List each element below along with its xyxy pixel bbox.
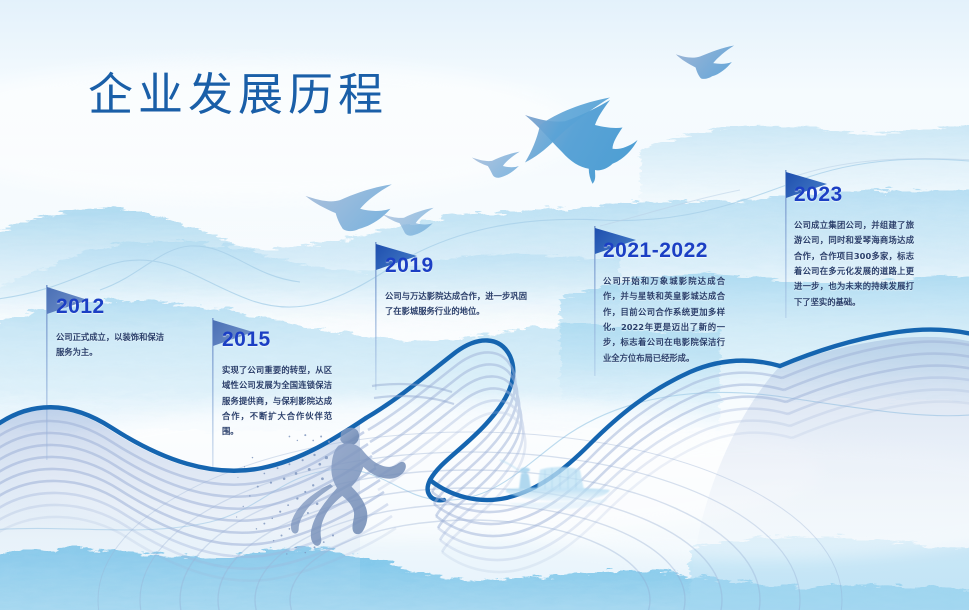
milestone-year: 2019 <box>385 255 529 276</box>
bird-upper-right <box>676 46 734 79</box>
milestone-2023[interactable]: 2023 公司成立集团公司，并组建了旅游公司，同时和爱琴海商场达成合作，合作项目… <box>794 184 916 310</box>
bird-large-center <box>525 98 638 184</box>
milestone-2019[interactable]: 2019 公司与万达影院达成合作，进一步巩固了在影城服务行业的地位。 <box>385 255 529 320</box>
milestone-description: 公司正式成立，以装饰和保洁服务为主。 <box>56 330 164 361</box>
bird-small-center <box>382 208 433 236</box>
milestone-year: 2023 <box>794 184 916 205</box>
bird-mid-left <box>305 184 391 231</box>
milestone-description: 实现了公司重要的转型，从区域性公司发展为全国连锁保洁服务提供商，与保利影院达成合… <box>222 363 332 440</box>
milestone-description: 公司与万达影院达成合作，进一步巩固了在影城服务行业的地位。 <box>385 289 527 320</box>
milestone-description: 公司成立集团公司，并组建了旅游公司，同时和爱琴海商场达成合作，合作项目300多家… <box>794 218 914 310</box>
milestone-description: 公司开始和万象城影院达成合作，并与星轶和英皇影城达成合作，目前公司合作系统更加多… <box>603 274 725 366</box>
bird-small-left <box>472 152 520 178</box>
page-title: 企业发展历程 <box>88 58 388 123</box>
milestone-year: 2012 <box>56 296 174 317</box>
milestone-2012[interactable]: 2012 公司正式成立，以装饰和保洁服务为主。 <box>56 296 174 361</box>
milestone-2021-2022[interactable]: 2021-2022 公司开始和万象城影院达成合作，并与星轶和英皇影城达成合作，目… <box>603 240 729 366</box>
milestone-2015[interactable]: 2015 实现了公司重要的转型，从区域性公司发展为全国连锁保洁服务提供商，与保利… <box>222 329 340 440</box>
poster-canvas: 企业发展历程 2012 公司正式成立，以装饰和保洁服务为主。 2015 实现了公… <box>0 0 969 610</box>
milestone-year: 2015 <box>222 329 340 350</box>
milestone-year: 2021-2022 <box>603 240 729 261</box>
